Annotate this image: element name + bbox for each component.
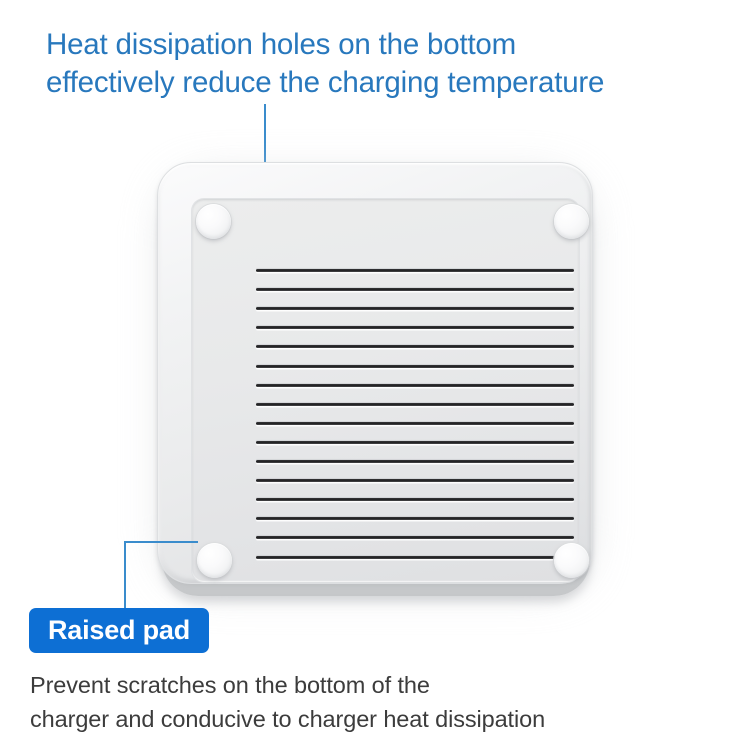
raised-pad-bottom-right [554,543,589,578]
vent-slot [256,517,574,520]
body-copy-line-2: charger and conducive to charger heat di… [30,702,720,736]
vent-slot [256,556,574,559]
page-title: Heat dissipation holes on the bottom eff… [46,26,716,102]
raised-pad-badge-label: Raised pad [48,615,190,646]
callout-leader-line-bottom-vertical [124,541,126,611]
heat-dissipation-vent-group [256,269,574,569]
vent-slot [256,536,574,539]
feature-description: Prevent scratches on the bottom of the c… [30,668,720,736]
raised-pad-bottom-left [197,543,232,578]
vent-slot [256,384,574,387]
vent-slot [256,269,574,272]
vent-slot [256,345,574,348]
vent-slot [256,479,574,482]
raised-pad-top-left [196,204,231,239]
charger-bottom-face [157,162,593,584]
vent-slot [256,365,574,368]
charger-recessed-panel [192,199,579,582]
raised-pad-badge: Raised pad [29,608,209,653]
infographic-canvas: Heat dissipation holes on the bottom eff… [0,0,750,750]
vent-slot [256,326,574,329]
vent-slot [256,460,574,463]
headline-line-1: Heat dissipation holes on the bottom [46,26,716,64]
vent-slot [256,307,574,310]
headline-line-2: effectively reduce the charging temperat… [46,64,716,102]
vent-slot [256,288,574,291]
vent-slot [256,498,574,501]
callout-leader-line-bottom-horizontal [124,541,198,543]
raised-pad-top-right [554,204,589,239]
body-copy-line-1: Prevent scratches on the bottom of the [30,668,720,702]
vent-slot [256,422,574,425]
vent-slot [256,403,574,406]
charger-illustration [148,150,604,608]
vent-slot [256,441,574,444]
